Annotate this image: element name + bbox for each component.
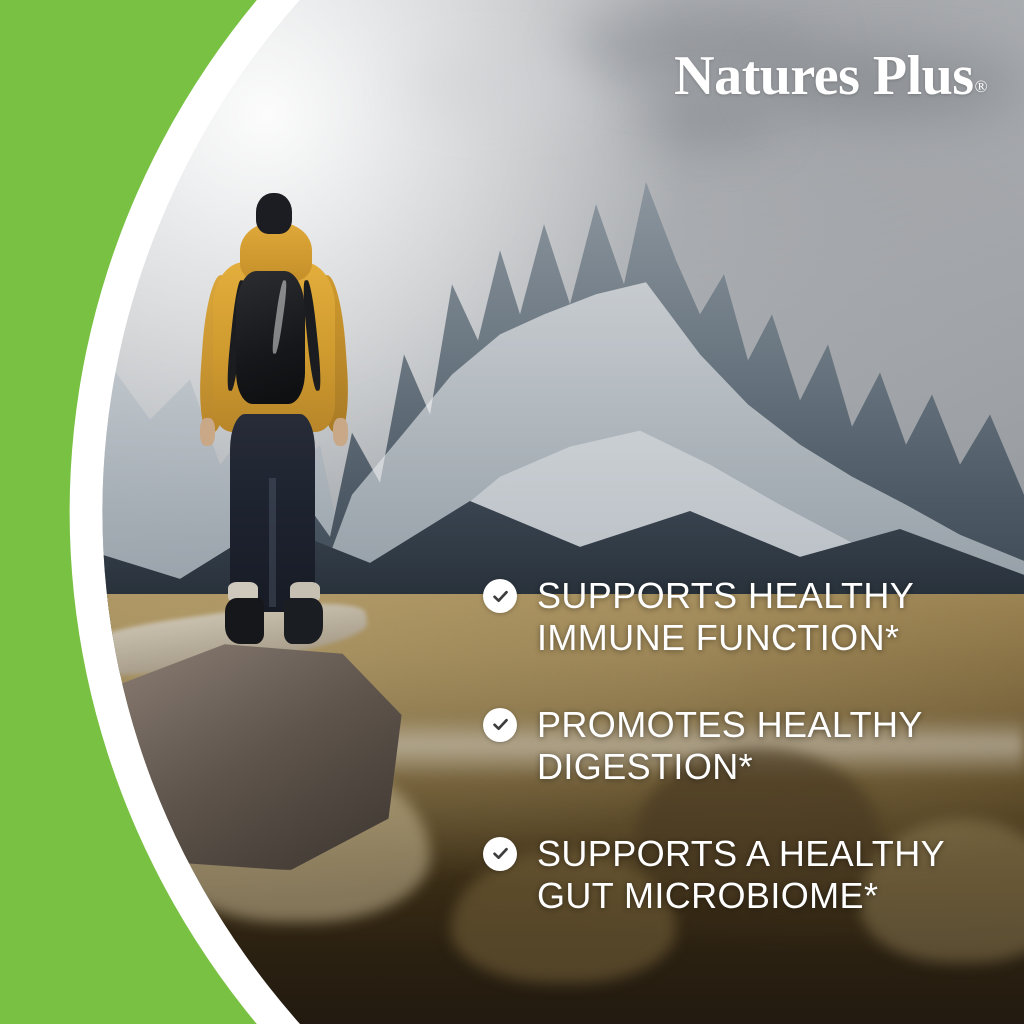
product-benefits-banner: Natures Plus® SUPPORTS HEALTHY IMMUNE FU… xyxy=(0,0,1024,1024)
cloud-shape xyxy=(410,63,594,107)
hiker-boot xyxy=(225,598,264,644)
registered-trademark-icon: ® xyxy=(975,77,987,96)
benefit-item: PROMOTES HEALTHY DIGESTION* xyxy=(483,704,953,789)
hiker-figure xyxy=(190,193,354,654)
check-circle-icon xyxy=(483,837,517,871)
hiker-left-hand xyxy=(200,418,215,446)
benefit-label: SUPPORTS HEALTHY IMMUNE FUNCTION* xyxy=(537,575,914,660)
hiker-backpack xyxy=(236,271,305,405)
benefits-list: SUPPORTS HEALTHY IMMUNE FUNCTION* PROMOT… xyxy=(483,575,953,918)
cloud-shape xyxy=(635,102,778,140)
hiker-boot xyxy=(284,598,323,644)
hiker-leg-gap xyxy=(269,478,276,607)
hiker-right-hand xyxy=(333,418,348,446)
hiker-beanie-hat xyxy=(256,193,292,234)
brand-logo: Natures Plus® xyxy=(674,48,986,104)
benefit-item: SUPPORTS HEALTHY IMMUNE FUNCTION* xyxy=(483,575,953,660)
benefit-label: SUPPORTS A HEALTHY GUT MICROBIOME* xyxy=(537,833,945,918)
brand-name: Natures Plus xyxy=(674,45,973,107)
benefit-label: PROMOTES HEALTHY DIGESTION* xyxy=(537,704,923,789)
check-circle-icon xyxy=(483,708,517,742)
check-circle-icon xyxy=(483,579,517,613)
benefit-item: SUPPORTS A HEALTHY GUT MICROBIOME* xyxy=(483,833,953,918)
